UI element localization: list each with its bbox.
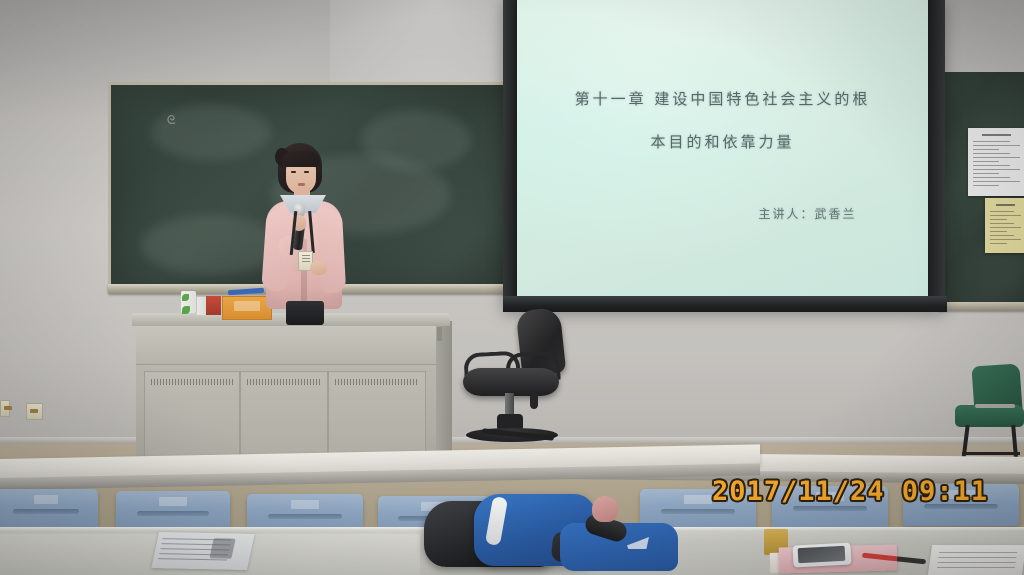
hand-right (310, 261, 327, 275)
podium-panel-right (328, 371, 426, 458)
green-chair-gap (975, 404, 1015, 408)
office-chair-height-lever (530, 392, 538, 409)
mouth (298, 183, 305, 186)
dark-skirt (286, 301, 324, 325)
loose-papers (928, 545, 1024, 575)
classroom-photograph: ᘓ 第十一章 建设中国特色社会主义的根 本目的和依靠力量 主讲人：武香兰 (0, 0, 1024, 575)
chalk-tray-right (938, 302, 1024, 311)
green-chair-seat (955, 405, 1024, 427)
mug-leaf-pattern (182, 294, 189, 301)
notice-white-paper (968, 128, 1024, 196)
printed-flyer (151, 532, 254, 570)
smartphone-screen (798, 546, 846, 563)
presenter-person (248, 143, 360, 318)
podium-latch (437, 327, 442, 341)
eye-left (291, 171, 296, 173)
slide-title-line-1: 第十一章 建设中国特色社会主义的根 (517, 88, 928, 109)
podium-right-side (436, 321, 452, 461)
vent-grille-icon (247, 379, 321, 385)
red-box-object (206, 296, 221, 315)
office-chair-gas-cylinder (505, 393, 514, 415)
student-chair-back (0, 489, 98, 531)
hair-fringe (282, 151, 320, 167)
lectern-podium (132, 313, 450, 461)
eye-right (304, 171, 309, 173)
wall-socket-partial-icon (0, 400, 10, 417)
student-chair-back (772, 486, 888, 528)
office-chair-seat (463, 368, 559, 396)
podium-upper-band (136, 324, 436, 365)
arm-right (316, 208, 346, 293)
vent-grille-icon (151, 379, 233, 385)
wall-socket-icon (26, 403, 43, 420)
screen-bottom-bar (503, 296, 947, 312)
podium-panel-center (240, 371, 328, 458)
podium-panel-left (144, 371, 240, 458)
mug-leaf-pattern (182, 306, 190, 314)
pink-knit-item (592, 496, 618, 522)
student-chair-back (903, 484, 1019, 526)
screen-right-border (928, 0, 945, 302)
screen-left-border (503, 0, 517, 302)
slide-presenter-line: 主讲人：武香兰 (517, 205, 1013, 222)
slide-title-line-2: 本目的和依靠力量 (517, 131, 928, 152)
green-chair-rail (962, 452, 1020, 455)
vent-grille-icon (335, 379, 419, 385)
